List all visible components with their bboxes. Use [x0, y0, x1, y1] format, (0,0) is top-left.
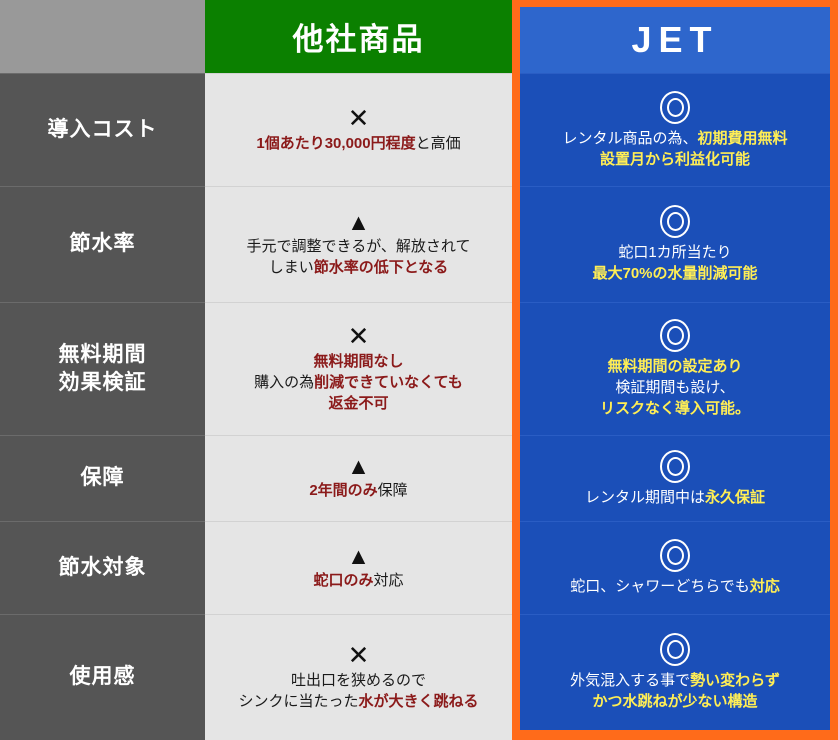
- row-label-2: 無料期間効果検証: [0, 302, 205, 435]
- double-circle-mark-icon: [660, 205, 690, 238]
- double-circle-mark-icon: [660, 319, 690, 352]
- comparison-table: 他社商品 JET レンタル商品の為、初期費用無料設置月から利益化可能 蛇口1カ所…: [0, 0, 838, 740]
- jet-text-highlight: 対応: [750, 578, 780, 595]
- jet-text-highlight: 勢い変わらず: [690, 672, 780, 689]
- competitor-cell-2: ✕無料期間なし購入の為削減できていなくても返金不可: [205, 302, 512, 435]
- jet-text-plain: レンタル期間中は: [585, 489, 705, 506]
- row-label-0: 導入コスト: [0, 73, 205, 186]
- jet-text-plain: 蛇口1カ所当たり: [618, 244, 731, 261]
- competitor-cell-1: ▲手元で調整できるが、解放されてしまい節水率の低下となる: [205, 186, 512, 302]
- jet-cell-text: 蛇口、シャワーどちらでも対応: [570, 576, 780, 597]
- jet-column-header: JET: [520, 7, 830, 73]
- cross-mark-icon: ✕: [348, 642, 370, 668]
- jet-text-plain: レンタル商品の為、: [562, 130, 697, 147]
- competitor-cell-text: 吐出口を狭めるのでシンクに当たった水が大きく跳ねる: [238, 671, 478, 712]
- triangle-mark-icon: ▲: [347, 545, 370, 568]
- competitor-text-plain: シンクに当たった: [238, 693, 358, 710]
- double-circle-inner: [667, 457, 684, 476]
- jet-text-highlight: リスクなく導入可能。: [600, 400, 750, 417]
- competitor-text-plain: 吐出口を狭めるので: [291, 672, 426, 689]
- triangle-mark-icon: ▲: [347, 455, 370, 478]
- jet-text-highlight: かつ水跳ねが少ない構造: [592, 693, 757, 710]
- competitor-text-highlight: 節水率の低下となる: [314, 259, 449, 276]
- jet-cell-text: レンタル期間中は永久保証: [585, 487, 765, 508]
- competitor-text-highlight: 削減できていなくても: [314, 374, 463, 391]
- jet-cell-0: レンタル商品の為、初期費用無料設置月から利益化可能: [520, 73, 830, 186]
- row-label-5: 使用感: [0, 614, 205, 740]
- jet-column: JET レンタル商品の為、初期費用無料設置月から利益化可能 蛇口1カ所当たり最大…: [512, 0, 838, 740]
- double-circle-mark-icon: [660, 539, 690, 572]
- triangle-mark-icon: ▲: [347, 211, 370, 234]
- jet-cell-text: 蛇口1カ所当たり最大70%の水量削減可能: [592, 242, 757, 284]
- competitor-text-highlight: 2年間のみ: [309, 482, 377, 499]
- jet-text-plain: 蛇口、シャワーどちらでも: [570, 578, 750, 595]
- competitor-cell-0: ✕1個あたり30,000円程度と高価: [205, 73, 512, 186]
- jet-text-highlight: 初期費用無料: [698, 130, 788, 147]
- double-circle-inner: [667, 212, 684, 231]
- jet-text-plain: 外気混入する事で: [570, 672, 690, 689]
- double-circle-mark-icon: [660, 633, 690, 666]
- competitor-cell-text: 1個あたり30,000円程度と高価: [256, 134, 460, 155]
- competitor-text-plain: 保障: [378, 482, 408, 499]
- competitor-cell-text: 蛇口のみ対応: [313, 571, 403, 592]
- competitor-text-plain: 対応: [374, 572, 404, 589]
- double-circle-inner: [667, 546, 684, 565]
- jet-text-highlight: 永久保証: [705, 489, 765, 506]
- competitor-text-highlight: 水が大きく跳ねる: [359, 693, 479, 710]
- jet-cell-1: 蛇口1カ所当たり最大70%の水量削減可能: [520, 186, 830, 302]
- jet-cell-text: 無料期間の設定あり検証期間も設け、リスクなく導入可能。: [600, 356, 750, 419]
- jet-cell-text: レンタル商品の為、初期費用無料設置月から利益化可能: [562, 128, 787, 170]
- jet-cell-text: 外気混入する事で勢い変わらずかつ水跳ねが少ない構造: [570, 670, 780, 712]
- jet-text-highlight: 設置月から利益化可能: [600, 151, 750, 168]
- jet-text-highlight: 最大70%の水量削減可能: [592, 265, 757, 282]
- competitor-text-plain: と高価: [416, 135, 461, 152]
- jet-cell-5: 外気混入する事で勢い変わらずかつ水跳ねが少ない構造: [520, 614, 830, 730]
- competitor-cell-text: 無料期間なし購入の為削減できていなくても返金不可: [254, 352, 463, 414]
- double-circle-inner: [667, 326, 684, 345]
- jet-text-plain: 検証期間も設け、: [615, 379, 734, 396]
- competitor-text-plain: しまい: [269, 259, 314, 276]
- double-circle-mark-icon: [660, 450, 690, 483]
- cross-mark-icon: ✕: [348, 105, 370, 131]
- label-column-header: [0, 0, 205, 73]
- competitor-column-header: 他社商品: [205, 0, 512, 73]
- cross-mark-icon: ✕: [348, 323, 370, 349]
- jet-text-highlight: 無料期間の設定あり: [607, 358, 742, 375]
- jet-cell-4: 蛇口、シャワーどちらでも対応: [520, 521, 830, 614]
- competitor-cell-text: 手元で調整できるが、解放されてしまい節水率の低下となる: [247, 237, 471, 278]
- row-label-3: 保障: [0, 435, 205, 521]
- jet-cell-2: 無料期間の設定あり検証期間も設け、リスクなく導入可能。: [520, 302, 830, 435]
- competitor-cell-3: ▲2年間のみ保障: [205, 435, 512, 521]
- competitor-cell-text: 2年間のみ保障: [309, 481, 407, 502]
- jet-cell-3: レンタル期間中は永久保証: [520, 435, 830, 521]
- competitor-text-plain: 手元で調整できるが、解放されて: [247, 238, 471, 255]
- competitor-text-plain: 購入の為: [254, 374, 314, 391]
- competitor-cell-5: ✕吐出口を狭めるのでシンクに当たった水が大きく跳ねる: [205, 614, 512, 740]
- competitor-text-highlight: 無料期間なし: [313, 353, 403, 370]
- competitor-text-highlight: 返金不可: [328, 395, 388, 412]
- double-circle-mark-icon: [660, 91, 690, 124]
- double-circle-inner: [667, 98, 684, 117]
- jet-column-inner: JET レンタル商品の為、初期費用無料設置月から利益化可能 蛇口1カ所当たり最大…: [520, 7, 830, 730]
- row-label-1: 節水率: [0, 186, 205, 302]
- row-label-4: 節水対象: [0, 521, 205, 614]
- competitor-text-highlight: 1個あたり30,000円程度: [256, 135, 415, 152]
- double-circle-inner: [667, 640, 684, 659]
- competitor-cell-4: ▲蛇口のみ対応: [205, 521, 512, 614]
- competitor-text-highlight: 蛇口のみ: [313, 572, 373, 589]
